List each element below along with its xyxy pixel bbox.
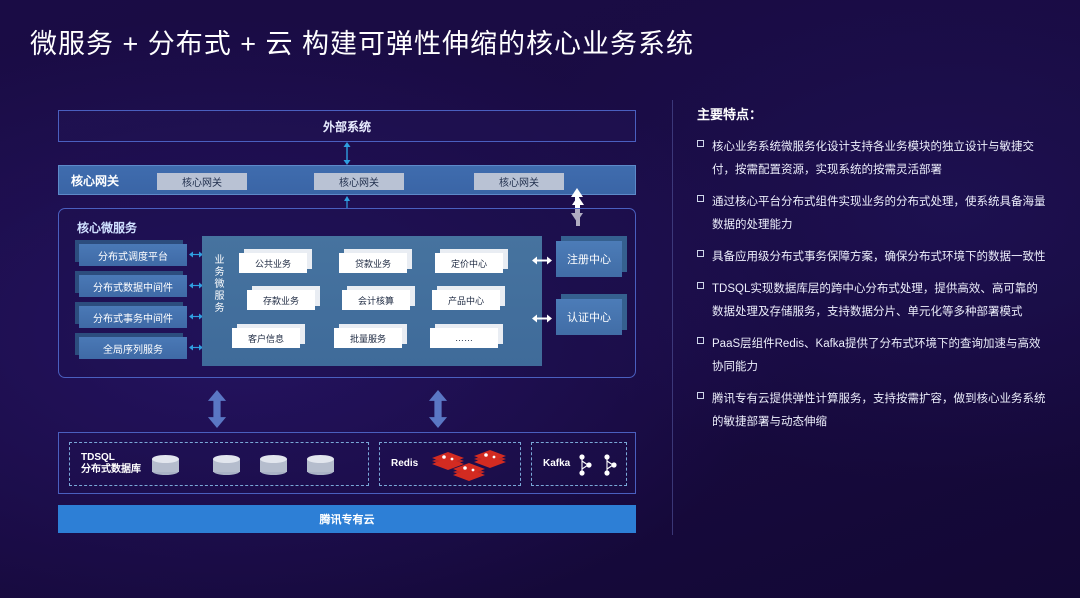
cylinder-top	[307, 455, 334, 463]
biz-card-label-1: 贷款业务	[339, 253, 407, 273]
biz-card-6[interactable]: 客户信息	[232, 328, 300, 348]
auth-center-box[interactable]: 认证中心	[556, 299, 622, 335]
biz-card-7[interactable]: 批量服务	[334, 328, 402, 348]
feature-item: 核心业务系统微服务化设计支持各业务模块的独立设计与敏捷交付，按需配置资源，实现系…	[697, 136, 1049, 182]
connector-registry	[532, 255, 552, 266]
connector-middleware-1	[189, 281, 203, 290]
tdsql-label-line2: 分布式数据库	[81, 464, 141, 475]
business-vertical-label: 业务微服务	[207, 254, 223, 314]
cylinder-top	[260, 455, 287, 463]
connector-middleware-3	[189, 343, 203, 352]
tdsql-box: TDSQL 分布式数据库	[69, 442, 369, 486]
feature-item: TDSQL实现数据库层的跨中心分布式处理，提供高效、高可靠的数据处理及存储服务，…	[697, 278, 1049, 324]
core-microservice-panel: 核心微服务 分布式调度平台 分布式数据中间件 分布式事务中间件 全局序列服务	[58, 208, 636, 378]
core-gateway-bar: 核心网关 核心网关 核心网关 核心网关	[58, 165, 636, 195]
feature-text-1: 通过核心平台分布式组件实现业务的分布式处理，使系统具备海量数据的处理能力	[712, 191, 1049, 237]
database-cylinder-icon	[260, 455, 287, 475]
biz-card-label-4: 会计核算	[342, 290, 410, 310]
architecture-diagram: 外部系统 核心网关 核心网关 核心网关 核心网关 核心微服务 分布式调度平台	[58, 110, 636, 535]
feature-item: 腾讯专有云提供弹性计算服务，支持按需扩容，做到核心业务系统的敏捷部署与动态伸缩	[697, 388, 1049, 434]
middleware-label-1: 分布式数据中间件	[79, 275, 187, 297]
core-microservice-label: 核心微服务	[77, 219, 137, 236]
middleware-item-2[interactable]: 分布式事务中间件	[79, 306, 187, 328]
database-cylinder-icon	[213, 455, 240, 475]
kafka-label: Kafka	[543, 458, 570, 470]
biz-card-label-2: 定价中心	[435, 253, 503, 273]
kafka-logo-icon	[575, 452, 623, 478]
vertical-divider	[672, 100, 673, 535]
square-bullet-icon	[697, 392, 704, 399]
gateway-chip-2: 核心网关	[314, 173, 404, 190]
biz-card-label-8: ……	[430, 328, 498, 348]
data-layer-panel: TDSQL 分布式数据库	[58, 432, 636, 494]
gateway-chip-3: 核心网关	[474, 173, 564, 190]
biz-card-label-7: 批量服务	[334, 328, 402, 348]
feature-text-2: 具备应用级分布式事务保障方案，确保分布式环境下的数据一致性	[712, 246, 1046, 269]
tdsql-label: TDSQL 分布式数据库	[81, 452, 141, 476]
square-bullet-icon	[697, 140, 704, 147]
feature-text-4: PaaS层组件Redis、Kafka提供了分布式环境下的查询加速与高效协同能力	[712, 333, 1049, 379]
connector-middleware-0	[189, 250, 203, 259]
biz-card-0[interactable]: 公共业务	[239, 253, 307, 273]
registry-center-label: 注册中心	[556, 241, 622, 277]
biz-card-label-6: 客户信息	[232, 328, 300, 348]
external-system-label: 外部系统	[323, 118, 371, 135]
biz-card-5[interactable]: 产品中心	[432, 290, 500, 310]
business-microservice-panel: 业务微服务 公共业务 贷款业务 定价中心 存款业务 会计核算	[202, 236, 542, 366]
arrow-external-to-gateway	[340, 142, 354, 165]
feature-text-3: TDSQL实现数据库层的跨中心分布式处理，提供高效、高可靠的数据处理及存储服务，…	[712, 278, 1049, 324]
core-gateway-title: 核心网关	[71, 172, 149, 189]
feature-item: PaaS层组件Redis、Kafka提供了分布式环境下的查询加速与高效协同能力	[697, 333, 1049, 379]
page-title: 微服务 + 分布式 + 云 构建可弹性伸缩的核心业务系统	[30, 22, 694, 61]
arrow-core-to-data-right	[427, 390, 449, 428]
gateway-chip-1: 核心网关	[157, 173, 247, 190]
square-bullet-icon	[697, 282, 704, 289]
biz-card-1[interactable]: 贷款业务	[339, 253, 407, 273]
biz-card-3[interactable]: 存款业务	[247, 290, 315, 310]
middleware-item-0[interactable]: 分布式调度平台	[79, 244, 187, 266]
database-cylinder-icon	[307, 455, 334, 475]
feature-text-5: 腾讯专有云提供弹性计算服务，支持按需扩容，做到核心业务系统的敏捷部署与动态伸缩	[712, 388, 1049, 434]
biz-card-label-3: 存款业务	[247, 290, 315, 310]
middleware-label-0: 分布式调度平台	[79, 244, 187, 266]
biz-card-label-0: 公共业务	[239, 253, 307, 273]
tencent-private-cloud-label: 腾讯专有云	[320, 511, 375, 527]
auth-center-label: 认证中心	[556, 299, 622, 335]
redis-label: Redis	[391, 458, 418, 470]
features-panel: 主要特点： 核心业务系统微服务化设计支持各业务模块的独立设计与敏捷交付，按需配置…	[697, 104, 1049, 443]
connector-middleware-2	[189, 312, 203, 321]
redis-logo-icon	[428, 448, 514, 484]
redis-box: Redis	[379, 442, 521, 486]
feature-text-0: 核心业务系统微服务化设计支持各业务模块的独立设计与敏捷交付，按需配置资源，实现系…	[712, 136, 1049, 182]
feature-item: 通过核心平台分布式组件实现业务的分布式处理，使系统具备海量数据的处理能力	[697, 191, 1049, 237]
middleware-item-3[interactable]: 全局序列服务	[79, 337, 187, 359]
cylinder-top	[213, 455, 240, 463]
biz-card-label-5: 产品中心	[432, 290, 500, 310]
biz-card-8[interactable]: ……	[430, 328, 498, 348]
biz-card-4[interactable]: 会计核算	[342, 290, 410, 310]
cylinder-top	[152, 455, 179, 463]
features-title: 主要特点：	[697, 104, 1049, 123]
arrow-core-to-data-left	[206, 390, 228, 428]
square-bullet-icon	[697, 337, 704, 344]
external-system-box: 外部系统	[58, 110, 636, 142]
database-cylinder-icon	[152, 455, 179, 475]
middleware-label-2: 分布式事务中间件	[79, 306, 187, 328]
kafka-box: Kafka	[531, 442, 627, 486]
tencent-private-cloud-bar: 腾讯专有云	[58, 505, 636, 533]
feature-item: 具备应用级分布式事务保障方案，确保分布式环境下的数据一致性	[697, 246, 1049, 269]
square-bullet-icon	[697, 250, 704, 257]
registry-center-box[interactable]: 注册中心	[556, 241, 622, 277]
middleware-item-1[interactable]: 分布式数据中间件	[79, 275, 187, 297]
square-bullet-icon	[697, 195, 704, 202]
middleware-label-3: 全局序列服务	[79, 337, 187, 359]
tdsql-label-line1: TDSQL	[81, 452, 115, 463]
connector-auth	[532, 313, 552, 324]
biz-card-2[interactable]: 定价中心	[435, 253, 503, 273]
